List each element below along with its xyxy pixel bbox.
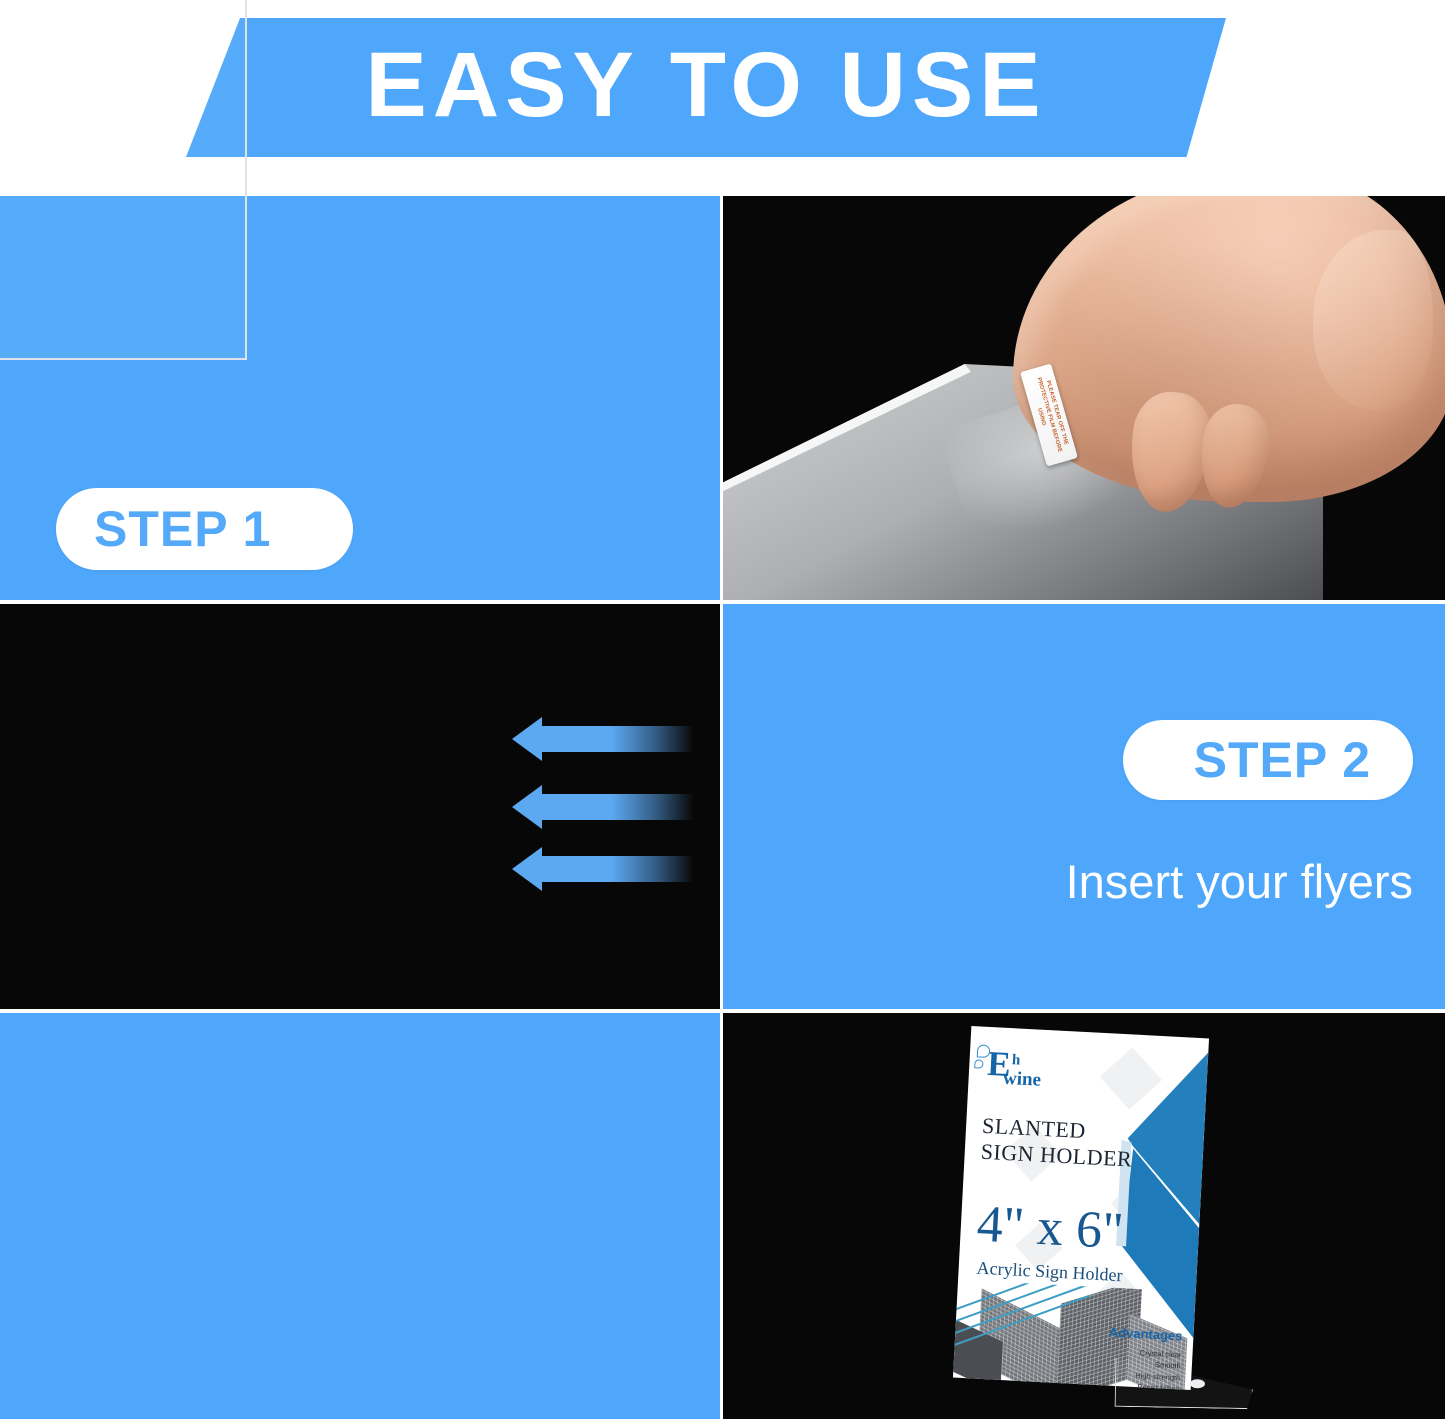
flyer-logo: E h wine xyxy=(986,1049,1042,1090)
knuckle-highlight xyxy=(1313,230,1433,410)
logo-bubble-small-icon xyxy=(974,1059,983,1068)
step2-badge-label: STEP 2 xyxy=(1194,735,1371,785)
infographic-page: EASY TO USE STEP 1 Peel off the protecti… xyxy=(0,0,1445,1419)
arrow-head-icon xyxy=(512,717,542,761)
step1-block: STEP 1 Peel off the protective film xyxy=(56,488,596,600)
arrow-head-icon xyxy=(512,847,542,891)
flyer-size: 4" x 6" xyxy=(976,1199,1125,1259)
arrow-head-icon xyxy=(512,785,542,829)
page-title: EASY TO USE xyxy=(365,39,1046,131)
motion-arrow xyxy=(512,856,694,882)
flyer-artwork: E h wine SLANTED SIGN HOLDER 4" x 6" Acr… xyxy=(953,1026,1209,1390)
arrow-tail xyxy=(540,856,694,882)
flyer-advantages-title: Advantages xyxy=(1108,1326,1182,1343)
flyer-logo-superscript: h xyxy=(1012,1053,1043,1070)
header-banner: EASY TO USE xyxy=(186,18,1226,157)
step2-badge: STEP 2 xyxy=(1123,720,1413,800)
motion-arrow xyxy=(512,794,694,820)
screw-hole xyxy=(1190,1379,1205,1388)
motion-arrow xyxy=(512,726,694,752)
panel-peel-photo xyxy=(723,196,1445,600)
assembled-holder: E h wine SLANTED SIGN HOLDER 4" x 6" Acr… xyxy=(953,1026,1209,1390)
flyer-title: SLANTED SIGN HOLDER xyxy=(980,1113,1134,1173)
holder-acrylic-shell xyxy=(0,0,247,360)
panel-insert-photo: E h wine SLANTED SIGN HOLDER 4" x 6" Acr… xyxy=(0,604,720,1009)
arrow-tail xyxy=(540,794,694,820)
step2-caption: Insert your flyers xyxy=(1066,856,1413,908)
flyer-logo-letter: E xyxy=(986,1044,1011,1084)
step1-badge: STEP 1 xyxy=(56,488,353,570)
panel-step3-text: STEP 3 The installation is complete xyxy=(0,1013,720,1419)
step2-block: STEP 2 Insert your flyers xyxy=(1066,720,1413,908)
arrow-tail xyxy=(540,726,694,752)
step1-badge-label: STEP 1 xyxy=(94,504,271,554)
